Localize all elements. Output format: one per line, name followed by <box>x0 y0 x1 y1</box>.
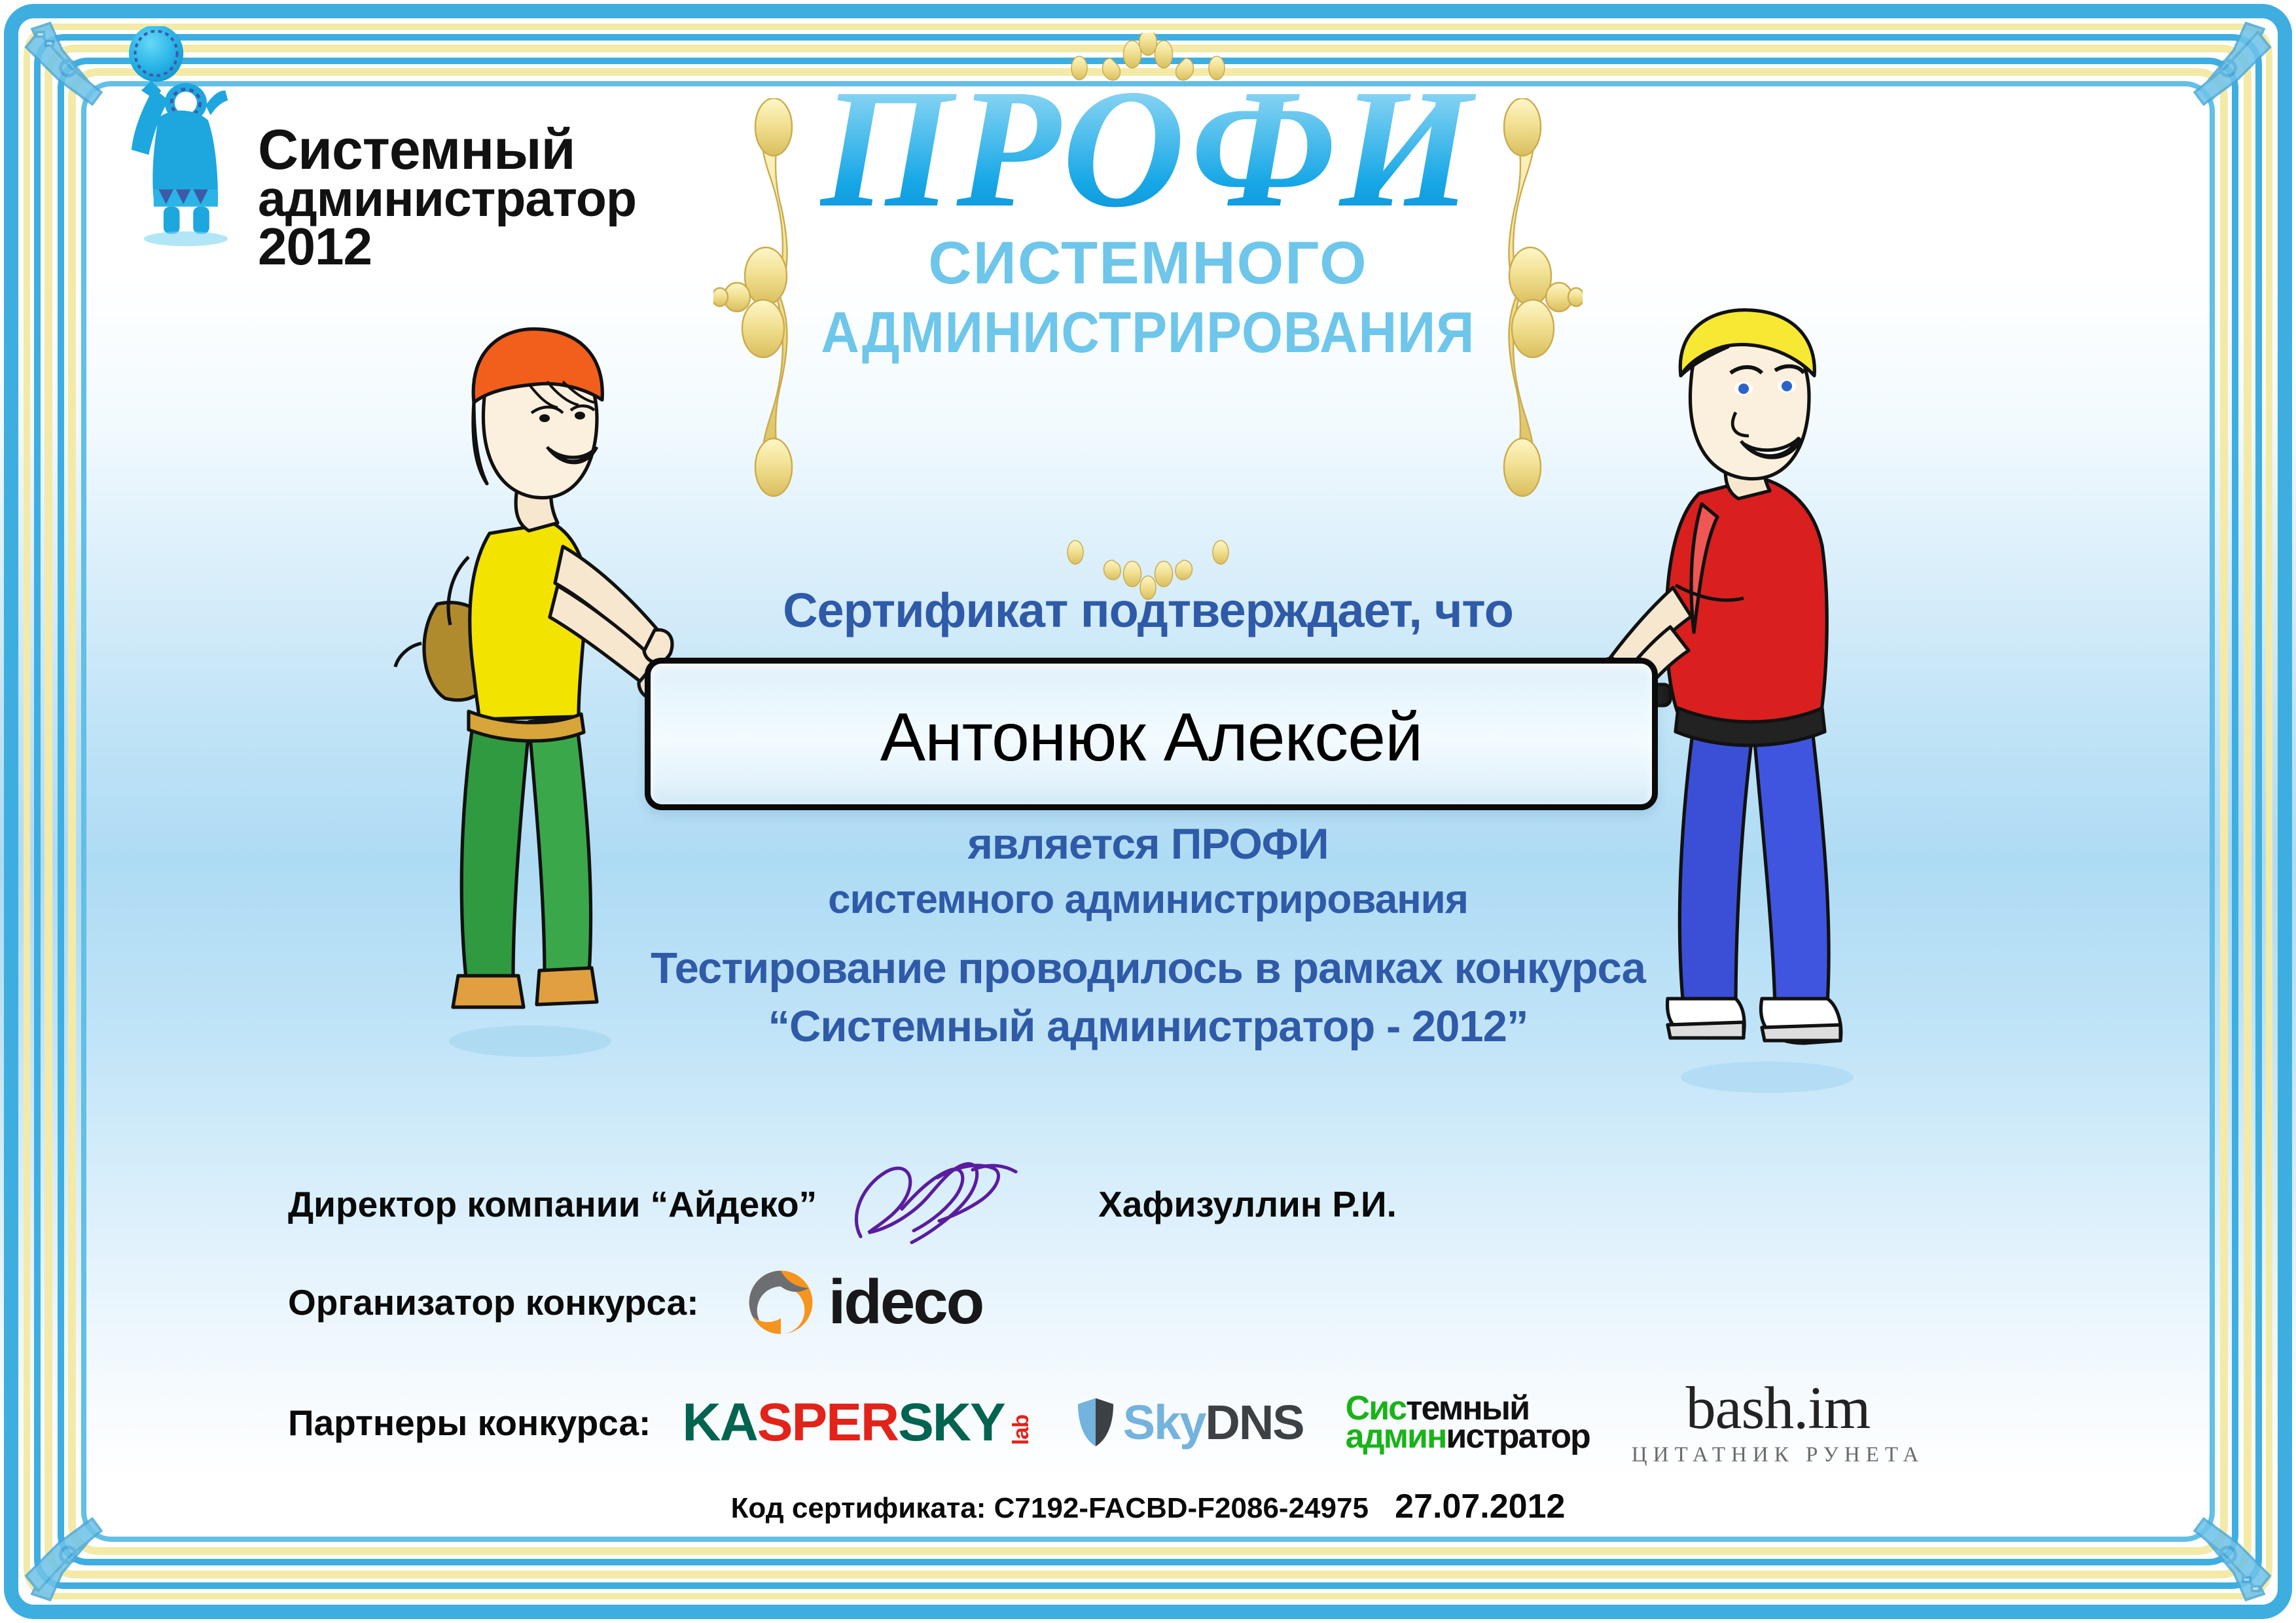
skydns-logo: SkyDNS <box>1076 1397 1304 1448</box>
certificate-body: является ПРОФИ системного администрирова… <box>0 815 2296 1056</box>
sysadmin-magazine-logo: Системный администратор <box>1346 1395 1590 1450</box>
partner-logo-list: KASPERSKY lab SkyDNS Системный администр… <box>682 1378 1924 1467</box>
code-label: Код сертификата: <box>731 1492 986 1524</box>
profi-title: ПРОФИ <box>820 72 1476 225</box>
body-line-2: системного администрирования <box>0 872 2296 927</box>
main-title-block: ПРОФИ СИСТЕМНОГО АДМИНИСТРИРОВАНИЯ <box>0 72 2296 366</box>
pliers-icon <box>2128 1455 2279 1606</box>
partners-label: Партнеры конкурса: <box>288 1402 651 1444</box>
bash-im-logo: bash.im ЦИТАТНИК РУНЕТА <box>1632 1378 1924 1467</box>
sysadmin-row2-green: админ <box>1346 1418 1446 1455</box>
body-line-1: является ПРОФИ <box>0 815 2296 872</box>
kaspersky-word-a: KA <box>682 1393 757 1452</box>
shield-icon <box>1076 1397 1115 1448</box>
body-line-3: Тестирование проводилось в рамках конкур… <box>0 939 2296 998</box>
handwritten-signature-icon <box>843 1158 1039 1250</box>
kaspersky-lab-sub: lab <box>1009 1415 1034 1445</box>
kaspersky-word-c: SKY <box>898 1393 1005 1452</box>
kaspersky-wordmark: KASPERSKY <box>682 1396 1004 1450</box>
bash-wordmark: bash.im <box>1632 1378 1924 1438</box>
code-value: C7192-FACBD-F2086-24975 <box>994 1492 1369 1524</box>
title-subtitle-1: СИСТЕМНОГО <box>928 229 1367 298</box>
ideco-logo: ideco <box>745 1266 983 1338</box>
certificate-page: Системный администратор 2012 <box>0 0 2296 1623</box>
skydns-word-a: Sky <box>1123 1395 1206 1450</box>
skydns-word-b: DNS <box>1205 1395 1303 1450</box>
sysadmin-row-2: администратор <box>1346 1423 1590 1451</box>
body-line-4: “Системный администратор - 2012” <box>0 997 2296 1056</box>
pliers-icon <box>17 1455 168 1606</box>
bash-tagline: ЦИТАТНИК РУНЕТА <box>1632 1443 1924 1467</box>
ideco-ring-icon <box>745 1266 817 1338</box>
partners-row: Партнеры конкурса: KASPERSKY lab SkyDNS … <box>288 1378 1924 1467</box>
certificate-code-line: Код сертификата: C7192-FACBD-F2086-24975… <box>0 1487 2296 1526</box>
skydns-wordmark: SkyDNS <box>1123 1399 1304 1447</box>
signer-name: Хафизуллин Р.И. <box>1098 1183 1397 1225</box>
kaspersky-lab-logo: KASPERSKY lab <box>682 1396 1033 1450</box>
issue-date: 27.07.2012 <box>1395 1488 1565 1525</box>
ideco-wordmark: ideco <box>829 1266 983 1338</box>
signature-row: Директор компании “Айдеко” Хафизуллин Р.… <box>288 1158 1440 1250</box>
recipient-name-field[interactable]: Антонюк Алексей <box>645 658 1658 810</box>
confirm-text: Сертификат подтверждает, что <box>0 582 2296 638</box>
organizer-row: Организатор конкурса: ideco <box>288 1266 982 1338</box>
recipient-name: Антонюк Алексей <box>651 699 1652 777</box>
title-subtitle-2: АДМИНИСТРИРОВАНИЯ <box>821 299 1475 366</box>
organizer-label: Организатор конкурса: <box>288 1281 699 1323</box>
director-label: Директор компании “Айдеко” <box>288 1183 817 1225</box>
kaspersky-word-b: SPER <box>757 1393 898 1452</box>
sysadmin-row2-black: истратор <box>1446 1418 1589 1455</box>
